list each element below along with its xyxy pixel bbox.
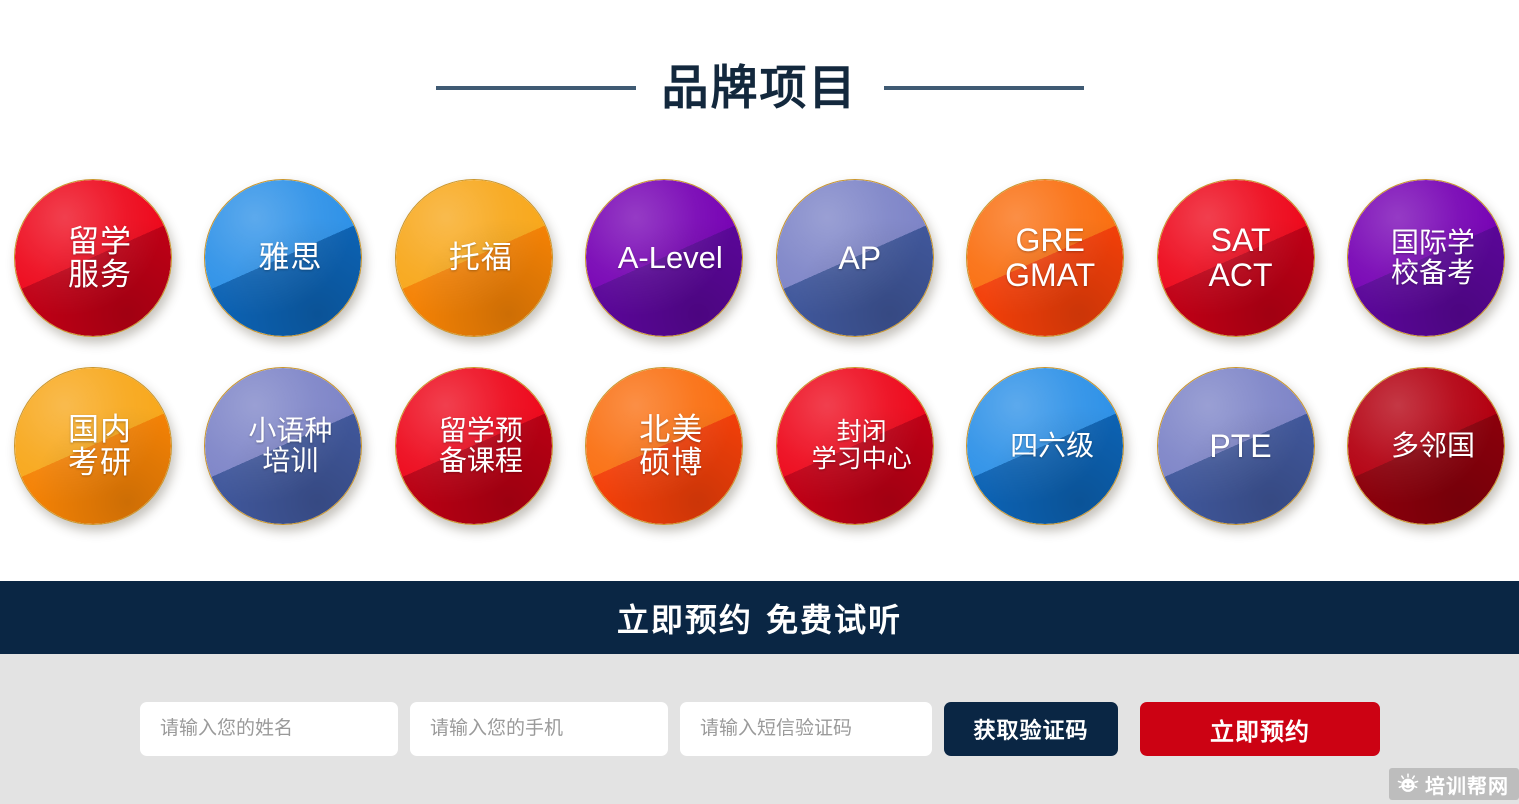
page-title: 品牌项目 [662,65,858,112]
bubble-disc: 留学 服务 [14,179,172,337]
bubble-label: A-Level [606,241,723,274]
program-bubble-row1-8[interactable]: 国际学 校备考 [1337,169,1515,347]
program-bubble-row1-6[interactable]: GRE GMAT [956,169,1134,347]
program-bubble-row2-5[interactable]: 封闭 学习中心 [766,357,944,535]
name-input[interactable] [140,702,398,756]
program-bubble-row2-2[interactable]: 小语种 培训 [194,357,372,535]
program-bubble-row2-4[interactable]: 北美 硕博 [575,357,753,535]
bubble-disc: 国内 考研 [14,367,172,525]
bubble-disc: SAT ACT [1157,179,1315,337]
program-bubble-row1-4[interactable]: A-Level [575,169,753,347]
bubble-label: SAT ACT [1199,223,1273,292]
sun-face-icon [1397,773,1419,795]
bubble-label: 留学 服务 [54,225,132,292]
program-bubble-row1-1[interactable]: 留学 服务 [4,169,182,347]
program-row-1: 留学 服务雅思托福A-LevelAPGRE GMATSAT ACT国际学 校备考 [4,162,1515,354]
bubble-label: 国际学 校备考 [1377,228,1475,288]
program-bubble-row1-3[interactable]: 托福 [385,169,563,347]
bubble-disc: AP [776,179,934,337]
bubble-label: PTE [1199,429,1271,464]
bubble-label: 多邻国 [1377,431,1475,461]
bubble-label: 四六级 [996,431,1094,461]
bubble-disc: 留学预 备课程 [395,367,553,525]
bubble-label: 封闭 学习中心 [798,419,912,473]
booking-banner: 立即预约 免费试听 [0,581,1519,654]
heading-rule-right [884,86,1084,90]
program-bubble-row2-7[interactable]: PTE [1147,357,1325,535]
program-grid: 留学 服务雅思托福A-LevelAPGRE GMATSAT ACT国际学 校备考… [0,162,1519,542]
bubble-label: 留学预 备课程 [425,416,523,476]
bubble-label: 北美 硕博 [625,413,703,480]
booking-form: 获取验证码 立即预约 [0,654,1519,804]
section-header: 品牌项目 [0,0,1519,170]
bubble-disc: 托福 [395,179,553,337]
bubble-disc: 小语种 培训 [204,367,362,525]
bubble-disc: 封闭 学习中心 [776,367,934,525]
program-bubble-row2-6[interactable]: 四六级 [956,357,1134,535]
sms-code-input[interactable] [680,702,932,756]
program-bubble-row1-2[interactable]: 雅思 [194,169,372,347]
bubble-disc: A-Level [585,179,743,337]
submit-booking-button[interactable]: 立即预约 [1140,702,1380,756]
bubble-label: 雅思 [244,241,322,274]
bubble-label: GRE GMAT [995,223,1095,292]
bubble-label: 托福 [435,241,513,274]
program-row-2: 国内 考研小语种 培训留学预 备课程北美 硕博封闭 学习中心四六级PTE多邻国 [4,350,1515,542]
program-bubble-row1-7[interactable]: SAT ACT [1147,169,1325,347]
booking-section: 立即预约 免费试听 获取验证码 立即预约 [0,581,1519,804]
get-verification-code-button[interactable]: 获取验证码 [944,702,1118,756]
program-bubble-row1-5[interactable]: AP [766,169,944,347]
site-watermark: 培训帮网 [1389,768,1519,800]
bubble-label: 小语种 培训 [234,416,332,476]
bubble-disc: 雅思 [204,179,362,337]
bubble-disc: 四六级 [966,367,1124,525]
program-bubble-row2-1[interactable]: 国内 考研 [4,357,182,535]
watermark-label: 培训帮网 [1425,770,1509,799]
bubble-disc: 北美 硕博 [585,367,743,525]
bubble-label: AP [828,241,881,276]
bubble-label: 国内 考研 [54,413,132,480]
program-bubble-row2-8[interactable]: 多邻国 [1337,357,1515,535]
bubble-disc: 国际学 校备考 [1347,179,1505,337]
heading-rule-left [436,86,636,90]
bubble-disc: GRE GMAT [966,179,1124,337]
phone-input[interactable] [410,702,668,756]
program-bubble-row2-3[interactable]: 留学预 备课程 [385,357,563,535]
booking-banner-title: 立即预约 免费试听 [617,595,902,641]
bubble-disc: PTE [1157,367,1315,525]
bubble-disc: 多邻国 [1347,367,1505,525]
